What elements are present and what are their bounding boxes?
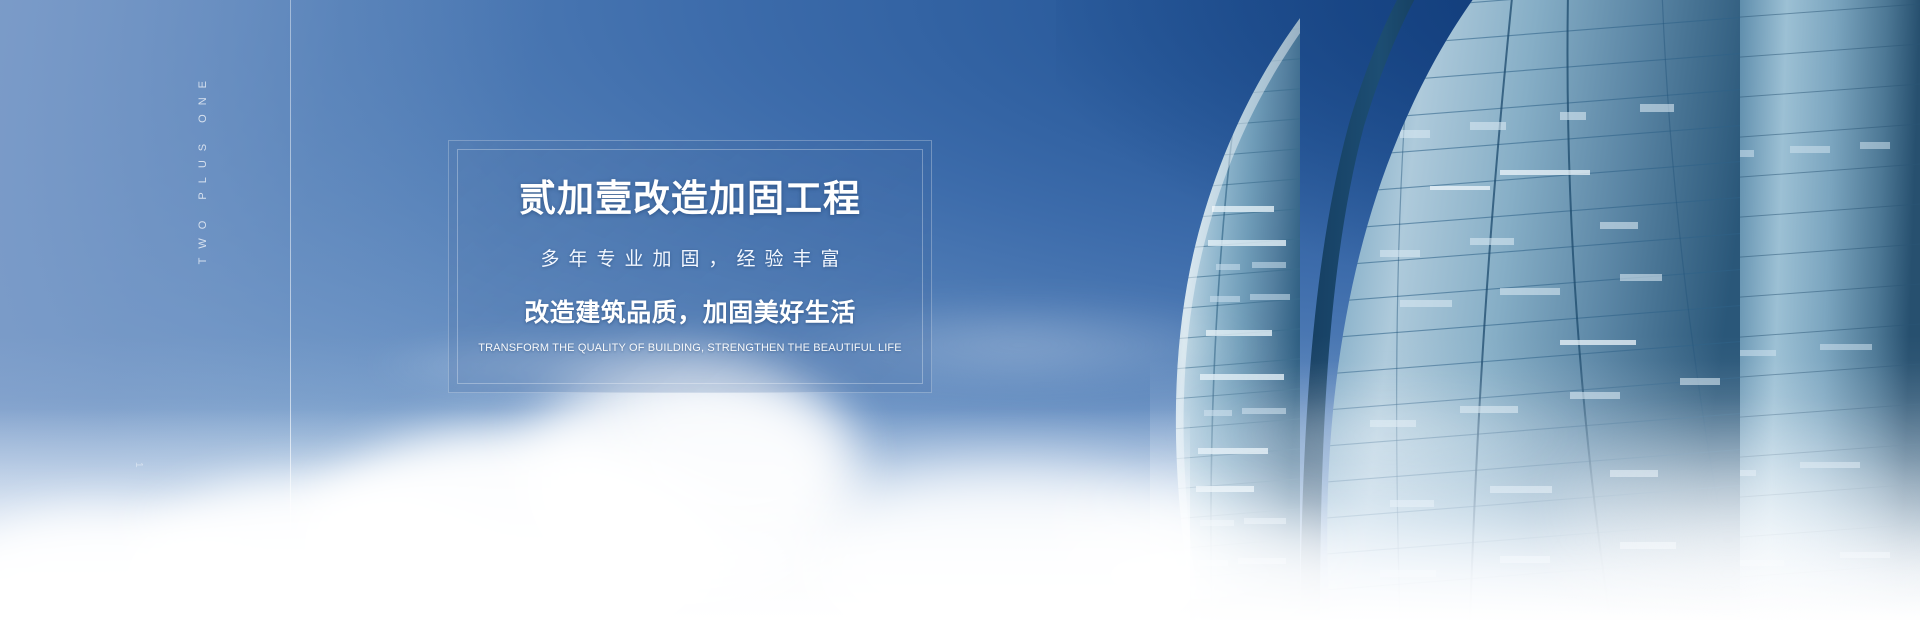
cloud-wisp [1180, 380, 1600, 490]
hero-text-panel-inner-border: 贰加壹改造加固工程 多年专业加固，经验丰富 改造建筑品质，加固美好生活 TRAN… [457, 149, 923, 384]
vertical-divider [290, 0, 291, 620]
hero-tagline-english: TRANSFORM THE QUALITY OF BUILDING, STREN… [478, 342, 902, 354]
sky-deep-blue-corner [1056, 0, 1920, 310]
hero-banner: TWO PLUS ONE 1 贰加壹改造加固工程 多年专业加固，经验丰富 改造建… [0, 0, 1920, 620]
cloud-puff [620, 380, 850, 530]
cloud-wisp [1560, 420, 1920, 620]
hero-subtitle: 多年专业加固，经验丰富 [531, 244, 848, 271]
slide-index-marker: 1 [133, 462, 144, 469]
brand-side-label: TWO PLUS ONE [190, 72, 216, 312]
hero-tagline: 改造建筑品质，加固美好生活 [524, 293, 856, 329]
brand-side-label-text: TWO PLUS ONE [198, 72, 209, 264]
page-title: 贰加壹改造加固工程 [519, 179, 861, 220]
hero-text-panel: 贰加壹改造加固工程 多年专业加固，经验丰富 改造建筑品质，加固美好生活 TRAN… [448, 140, 932, 393]
